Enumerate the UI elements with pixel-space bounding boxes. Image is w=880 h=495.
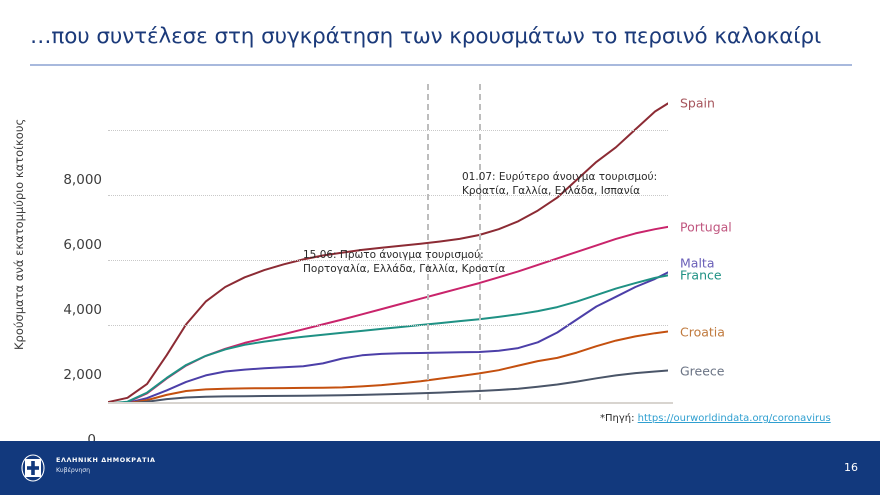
footer-org: ΕΛΛΗΝΙΚΗ ΔΗΜΟΚΡΑΤΙΑ Κυβέρνηση	[56, 456, 156, 474]
hellenic-republic-logo-icon	[18, 452, 48, 484]
series-label-portugal: Portugal	[680, 219, 732, 234]
series-label-spain: Spain	[680, 96, 715, 111]
title-divider	[30, 64, 852, 66]
annotation-jun-15: 15.06: Πρώτο άνοιγμα τουρισμού: Πορτογαλ…	[303, 248, 505, 276]
y-tick-2000: 2,000	[63, 367, 102, 383]
slide: …που συντέλεσε στη συγκράτηση των κρουσμ…	[0, 0, 880, 495]
y-tick-6000: 6,000	[63, 237, 102, 253]
title-block: …που συντέλεσε στη συγκράτηση των κρουσμ…	[0, 24, 880, 70]
annotation-jul-01-line2: Κροατία, Γαλλία, Ελλάδα, Ισπανία	[462, 184, 657, 198]
footer-org-line2: Κυβέρνηση	[56, 467, 156, 474]
page-title: …που συντέλεσε στη συγκράτηση των κρουσμ…	[30, 24, 860, 49]
chart: Κρούσματα ανά εκατομμύριο κατοίκους 8,00…	[0, 78, 880, 428]
annotation-jul-01: 01.07: Ευρύτερο άνοιγμα τουρισμού: Κροατ…	[462, 170, 657, 198]
y-axis-ticks: 8,000 6,000 4,000 2,000 0	[40, 170, 102, 470]
series-label-greece: Greece	[680, 363, 725, 378]
source-link[interactable]: https://ourworldindata.org/coronavirus	[638, 413, 831, 424]
annotation-jun-15-line2: Πορτογαλία, Ελλάδα, Γαλλία, Κροατία	[303, 262, 505, 276]
annotation-jun-15-line1: 15.06: Πρώτο άνοιγμα τουρισμού:	[303, 248, 505, 262]
footer-org-line1: ΕΛΛΗΝΙΚΗ ΔΗΜΟΚΡΑΤΙΑ	[56, 456, 156, 464]
series-label-france: France	[680, 268, 722, 283]
y-tick-4000: 4,000	[63, 302, 102, 318]
page-number: 16	[844, 461, 858, 474]
x-axis-baseline	[108, 402, 673, 404]
series-line-croatia	[108, 332, 668, 404]
marker-line-01-07	[479, 84, 481, 400]
annotation-jul-01-line1: 01.07: Ευρύτερο άνοιγμα τουρισμού:	[462, 170, 657, 184]
series-line-greece	[108, 371, 668, 404]
marker-line-15-06	[427, 84, 429, 400]
footer-bar: ΕΛΛΗΝΙΚΗ ΔΗΜΟΚΡΑΤΙΑ Κυβέρνηση 16	[0, 441, 880, 495]
y-axis-label: Κρούσματα ανά εκατομμύριο κατοίκους	[12, 120, 26, 350]
y-tick-8000: 8,000	[63, 172, 102, 188]
source-prefix: *Πηγή:	[600, 413, 638, 424]
source-note: *Πηγή: https://ourworldindata.org/corona…	[600, 413, 831, 424]
gridline-2000	[108, 325, 668, 326]
series-label-croatia: Croatia	[680, 324, 725, 339]
gridline-8000	[108, 130, 668, 131]
